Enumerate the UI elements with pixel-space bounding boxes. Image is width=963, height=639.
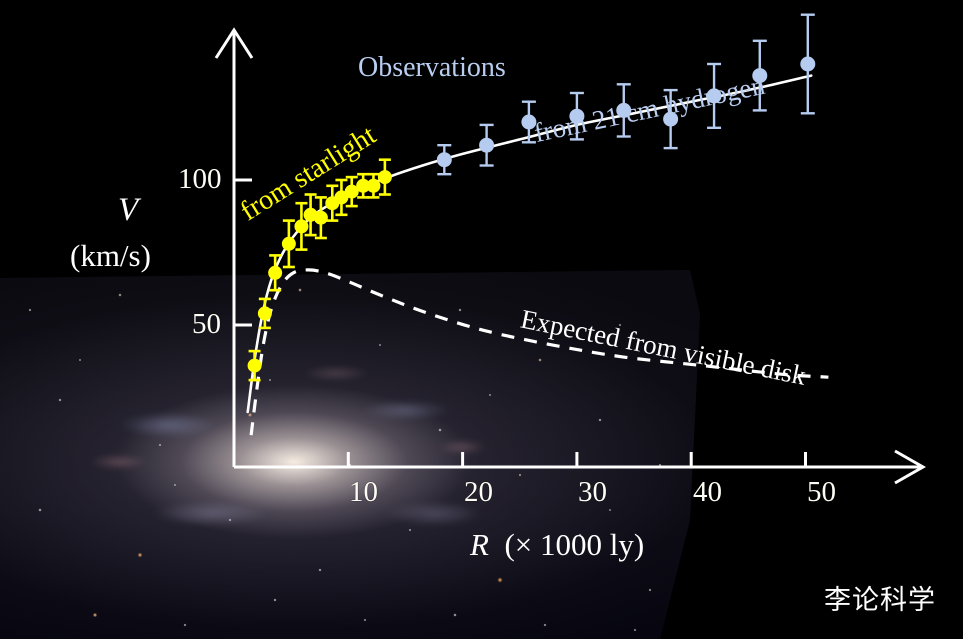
starlight-point-11 [366,179,380,193]
starlight-point-6 [314,211,328,225]
hydrogen-point-1 [479,138,494,153]
y-axis-unit: (km/s) [70,238,151,274]
x-tick-label-20: 20 [464,476,493,509]
y-tick-label-50: 50 [192,308,221,341]
starlight-point-1 [258,306,272,320]
starlight-point-4 [294,219,308,233]
starlight-point-3 [282,237,296,251]
axes [216,30,923,483]
annotation-observations: Observations [358,52,506,84]
x-axis-unit: (× 1000 ly) [504,527,644,562]
y-tick-label-100: 100 [178,163,222,196]
watermark: 李论科学 [824,578,936,617]
x-tick-label-50: 50 [807,476,836,509]
hydrogen-point-8 [800,57,815,72]
x-tick-label-10: 10 [349,476,378,509]
hydrogen-point-0 [437,152,452,167]
figure-canvas: 100 50 V (km/s) 10 20 30 40 50 R (× 1000… [0,0,963,639]
x-tick-label-30: 30 [578,476,607,509]
starlight-point-2 [268,266,282,280]
starlight-point-12 [378,170,392,184]
x-axis-name: R [470,527,489,562]
starlight-point-0 [248,359,262,373]
x-axis-label: R (× 1000 ly) [470,527,644,563]
x-tick-label-40: 40 [693,476,722,509]
y-axis-name: V [118,192,138,229]
